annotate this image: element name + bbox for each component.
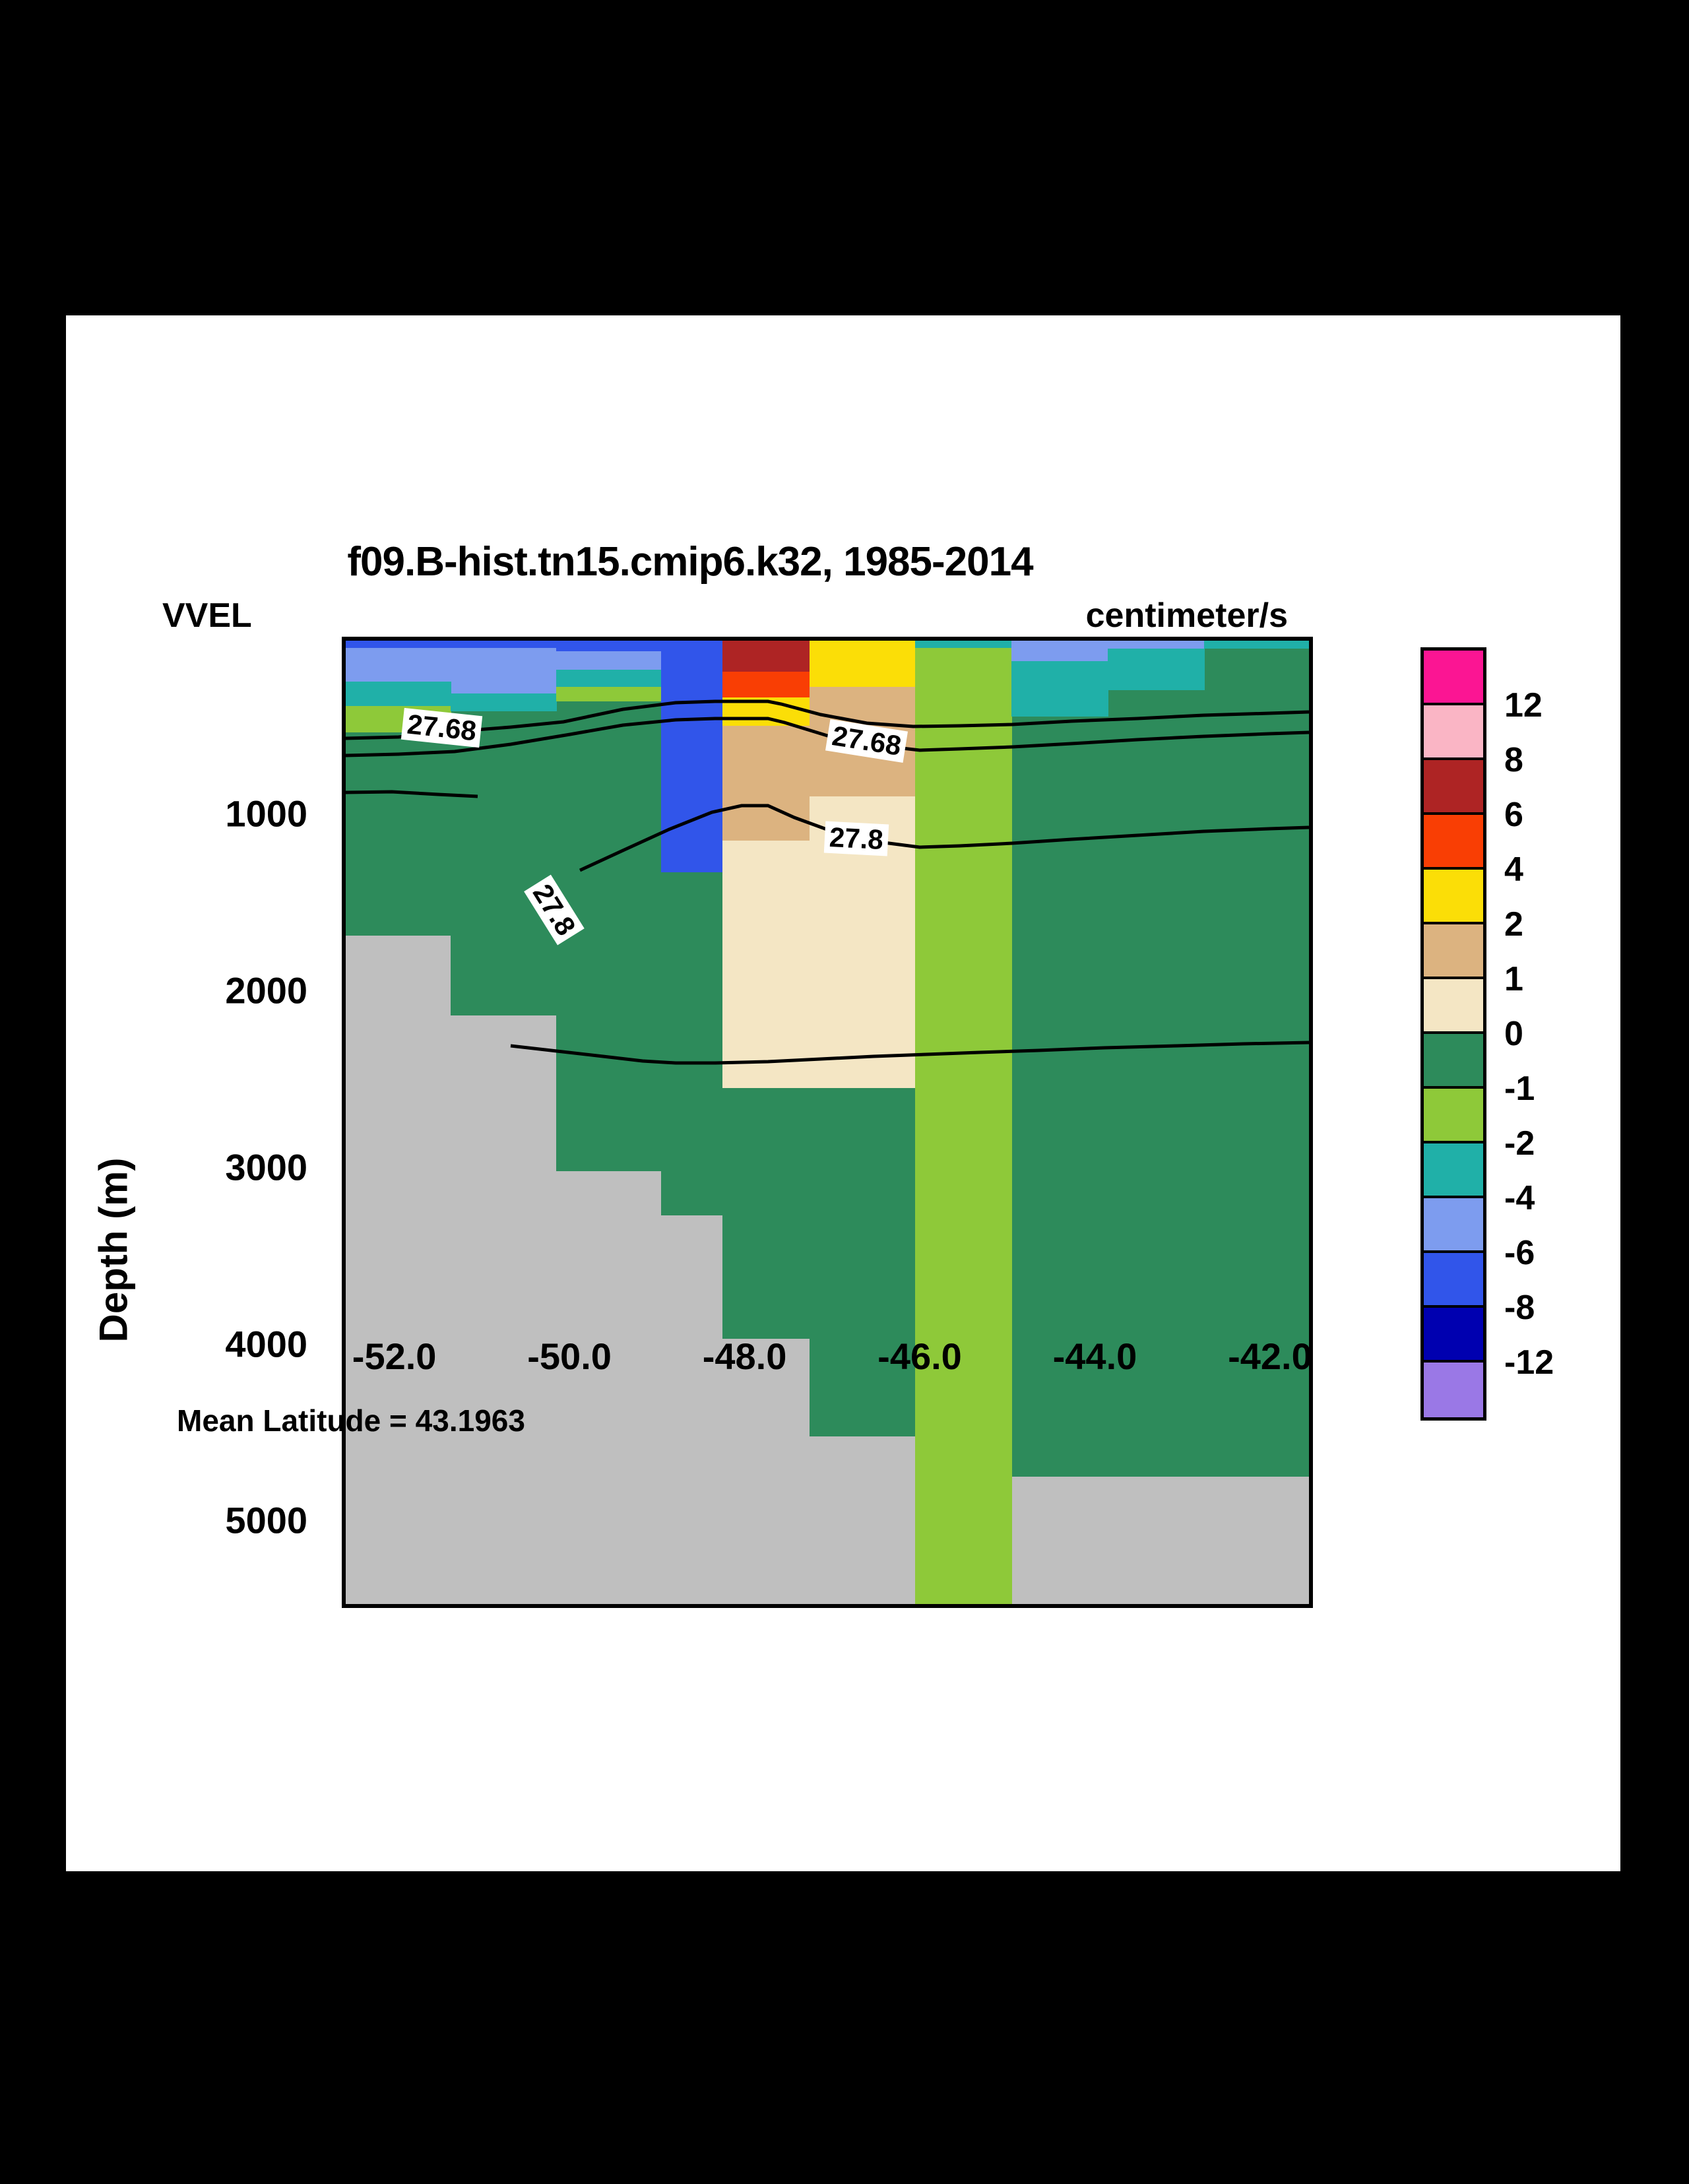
x-tick bbox=[538, 637, 542, 641]
x-tick bbox=[1029, 1604, 1032, 1608]
colorbar[interactable] bbox=[1420, 647, 1486, 1421]
y-tick bbox=[342, 1065, 346, 1068]
colorbar-tick-label: 0 bbox=[1504, 1014, 1523, 1054]
x-tick bbox=[819, 637, 822, 641]
colorbar-tick-label: 2 bbox=[1504, 905, 1523, 944]
x-tick bbox=[713, 1604, 717, 1608]
contour-label: 27.8 bbox=[824, 821, 889, 856]
x-tick bbox=[538, 1604, 542, 1608]
x-tick-label: -48.0 bbox=[703, 1335, 787, 1378]
chart-title: f09.B-hist.tn15.cmip6.k32, 1985-2014 bbox=[66, 538, 1314, 585]
contour-lines bbox=[346, 641, 1309, 1604]
x-tick-label: -52.0 bbox=[352, 1335, 437, 1378]
y-tick bbox=[1309, 888, 1313, 891]
x-tick-label: -46.0 bbox=[877, 1335, 962, 1378]
x-tick bbox=[1099, 1604, 1102, 1608]
x-tick bbox=[1274, 637, 1278, 641]
x-tick bbox=[608, 637, 612, 641]
x-tick bbox=[608, 1604, 612, 1608]
x-tick bbox=[994, 1604, 997, 1608]
x-tick-label: -50.0 bbox=[527, 1335, 612, 1378]
colorbar-band[interactable] bbox=[1424, 924, 1483, 979]
y-tick bbox=[342, 747, 346, 750]
colorbar-tick-label: -8 bbox=[1504, 1288, 1535, 1328]
y-tick bbox=[1309, 1454, 1313, 1457]
x-tick bbox=[924, 1604, 928, 1608]
x-tick bbox=[749, 1604, 753, 1608]
y-tick bbox=[1309, 1489, 1313, 1493]
y-tick-label: 1000 bbox=[110, 792, 307, 835]
y-tick bbox=[342, 1136, 346, 1139]
y-tick bbox=[1309, 1242, 1313, 1245]
x-tick-label: -44.0 bbox=[1053, 1335, 1137, 1378]
x-tick bbox=[819, 1604, 822, 1608]
x-tick bbox=[889, 1604, 892, 1608]
y-tick bbox=[1309, 1312, 1313, 1316]
y-tick bbox=[342, 1595, 346, 1599]
y-tick bbox=[342, 1312, 346, 1316]
x-tick bbox=[364, 1604, 367, 1608]
x-tick bbox=[643, 637, 647, 641]
mean-latitude-annotation: Mean Latitude = 43.1963 bbox=[177, 1403, 525, 1438]
y-tick bbox=[342, 1524, 346, 1528]
y-tick-label: 5000 bbox=[110, 1499, 307, 1542]
x-tick bbox=[1204, 637, 1207, 641]
y-tick bbox=[342, 1489, 346, 1493]
y-tick bbox=[1309, 1029, 1313, 1033]
x-tick bbox=[503, 1604, 507, 1608]
y-tick bbox=[342, 711, 346, 715]
colorbar-band[interactable] bbox=[1424, 815, 1483, 870]
y-tick bbox=[342, 1277, 346, 1280]
y-tick bbox=[1309, 782, 1313, 785]
colorbar-band[interactable] bbox=[1424, 760, 1483, 815]
y-tick bbox=[342, 959, 346, 962]
y-tick bbox=[1309, 676, 1313, 680]
x-tick bbox=[854, 1604, 857, 1608]
y-tick bbox=[1309, 1206, 1313, 1209]
colorbar-band[interactable] bbox=[1424, 1143, 1483, 1198]
y-tick bbox=[342, 1454, 346, 1457]
x-tick bbox=[678, 1604, 682, 1608]
x-tick bbox=[713, 637, 717, 641]
plot-area[interactable]: 27.68 27.68 27.8 27.8 bbox=[342, 637, 1313, 1608]
x-tick bbox=[784, 637, 787, 641]
x-tick bbox=[749, 637, 753, 641]
y-tick bbox=[1309, 641, 1313, 644]
colorbar-tick-label: 1 bbox=[1504, 959, 1523, 999]
x-tick bbox=[468, 1604, 472, 1608]
y-tick bbox=[342, 818, 346, 821]
x-tick bbox=[1169, 637, 1172, 641]
variable-label: VVEL bbox=[162, 596, 252, 635]
colorbar-band[interactable] bbox=[1424, 1089, 1483, 1143]
x-tick bbox=[1204, 1604, 1207, 1608]
x-tick bbox=[854, 637, 857, 641]
y-tick bbox=[1309, 1101, 1313, 1104]
y-tick bbox=[342, 782, 346, 785]
x-tick bbox=[398, 1604, 402, 1608]
y-tick bbox=[1309, 747, 1313, 750]
y-tick bbox=[342, 676, 346, 680]
x-tick bbox=[889, 637, 892, 641]
colorbar-tick-label: 6 bbox=[1504, 795, 1523, 835]
y-tick bbox=[1309, 1171, 1313, 1175]
y-tick-label: 2000 bbox=[110, 969, 307, 1012]
y-tick bbox=[1309, 1277, 1313, 1280]
x-tick bbox=[959, 1604, 962, 1608]
y-tick bbox=[1309, 959, 1313, 962]
x-tick bbox=[503, 637, 507, 641]
y-tick bbox=[1309, 1419, 1313, 1422]
colorbar-band[interactable] bbox=[1424, 870, 1483, 924]
x-tick bbox=[1099, 637, 1102, 641]
y-tick bbox=[1309, 1136, 1313, 1139]
figure-page: f09.B-hist.tn15.cmip6.k32, 1985-2014 VVE… bbox=[66, 315, 1620, 1871]
colorbar-band[interactable] bbox=[1424, 1308, 1483, 1363]
y-tick bbox=[342, 852, 346, 856]
y-tick bbox=[342, 1101, 346, 1104]
y-tick bbox=[342, 1560, 346, 1563]
heatmap-cells bbox=[346, 641, 1309, 1604]
x-tick bbox=[573, 1604, 577, 1608]
y-tick bbox=[342, 888, 346, 891]
x-tick-label: -42.0 bbox=[1228, 1335, 1312, 1378]
colorbar-tick-label: -12 bbox=[1504, 1343, 1554, 1382]
y-tick-label: 3000 bbox=[110, 1145, 307, 1188]
y-tick bbox=[342, 641, 346, 644]
y-tick-label: 4000 bbox=[110, 1322, 307, 1365]
units-label: centimeter/s bbox=[976, 596, 1288, 635]
colorbar-tick-label: 8 bbox=[1504, 740, 1523, 780]
y-tick bbox=[1309, 818, 1313, 821]
y-tick bbox=[342, 1206, 346, 1209]
colorbar-band[interactable] bbox=[1424, 1034, 1483, 1089]
x-tick bbox=[364, 637, 367, 641]
y-axis-label: Depth (m) bbox=[91, 1079, 137, 1422]
x-tick bbox=[1064, 1604, 1067, 1608]
y-tick bbox=[1309, 1524, 1313, 1528]
y-tick bbox=[1309, 994, 1313, 998]
x-tick bbox=[468, 637, 472, 641]
x-tick bbox=[1134, 1604, 1137, 1608]
x-tick bbox=[1134, 637, 1137, 641]
x-tick bbox=[433, 1604, 437, 1608]
colorbar-tick-label: -1 bbox=[1504, 1069, 1535, 1108]
y-tick bbox=[342, 1348, 346, 1352]
colorbar-band[interactable] bbox=[1424, 651, 1483, 705]
colorbar-band[interactable] bbox=[1424, 1198, 1483, 1253]
figure-stage: f09.B-hist.tn15.cmip6.k32, 1985-2014 VVE… bbox=[66, 315, 1620, 1871]
x-tick bbox=[1029, 637, 1032, 641]
x-tick bbox=[573, 637, 577, 641]
colorbar-band[interactable] bbox=[1424, 1253, 1483, 1308]
y-tick bbox=[1309, 924, 1313, 927]
x-tick bbox=[959, 637, 962, 641]
y-tick bbox=[1309, 711, 1313, 715]
x-tick bbox=[1239, 637, 1242, 641]
colorbar-tick-label: -2 bbox=[1504, 1124, 1535, 1163]
y-tick bbox=[342, 1171, 346, 1175]
colorbar-band[interactable] bbox=[1424, 979, 1483, 1034]
y-tick bbox=[1309, 1560, 1313, 1563]
x-tick bbox=[678, 637, 682, 641]
y-tick bbox=[1309, 1383, 1313, 1386]
y-tick bbox=[342, 994, 346, 998]
x-tick bbox=[1239, 1604, 1242, 1608]
colorbar-tick-label: -4 bbox=[1504, 1178, 1535, 1218]
x-tick bbox=[643, 1604, 647, 1608]
x-tick bbox=[784, 1604, 787, 1608]
y-tick bbox=[342, 1383, 346, 1386]
colorbar-tick-label: 12 bbox=[1504, 686, 1543, 725]
y-tick bbox=[342, 1029, 346, 1033]
x-tick bbox=[1064, 637, 1067, 641]
x-tick bbox=[924, 637, 928, 641]
colorbar-tick-label: 4 bbox=[1504, 850, 1523, 889]
y-tick bbox=[342, 1242, 346, 1245]
y-tick bbox=[342, 924, 346, 927]
y-tick bbox=[1309, 852, 1313, 856]
colorbar-band[interactable] bbox=[1424, 705, 1483, 760]
y-tick bbox=[1309, 1595, 1313, 1599]
x-tick bbox=[433, 637, 437, 641]
colorbar-tick-label: -6 bbox=[1504, 1233, 1535, 1273]
x-tick bbox=[994, 637, 997, 641]
y-tick bbox=[1309, 1065, 1313, 1068]
x-tick bbox=[1274, 1604, 1278, 1608]
x-tick bbox=[398, 637, 402, 641]
colorbar-band[interactable] bbox=[1424, 1363, 1483, 1417]
x-tick bbox=[1169, 1604, 1172, 1608]
